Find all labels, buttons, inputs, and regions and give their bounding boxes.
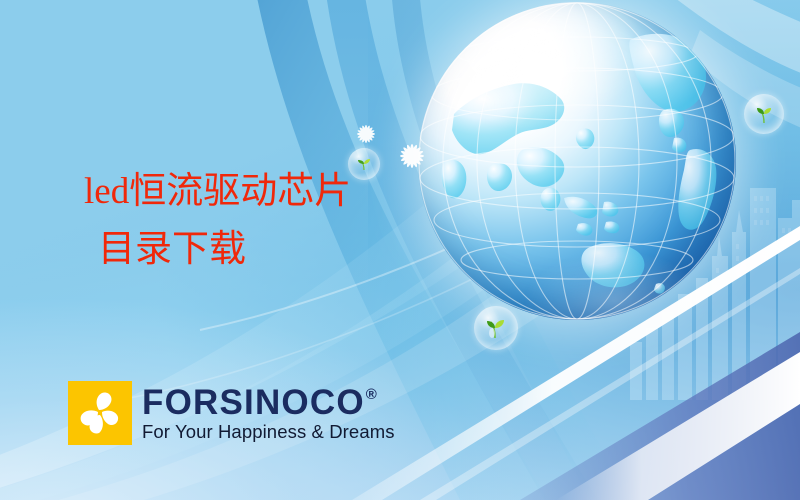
logo-text-block: FORSINOCO ® For Your Happiness & Dreams <box>142 385 395 442</box>
brand-logo: FORSINOCO ® For Your Happiness & Dreams <box>68 381 395 445</box>
forsinoco-pinwheel-icon <box>68 381 132 445</box>
promotional-banner: led恒流驱动芯片 目录下载 FORSINOCO ® For Your Happ… <box>0 0 800 500</box>
registered-trademark-icon: ® <box>366 387 378 402</box>
page-title: led恒流驱动芯片 目录下载 <box>84 163 351 280</box>
logo-brand-name-text: FORSINOCO <box>142 385 365 420</box>
logo-brand-name: FORSINOCO ® <box>142 385 395 420</box>
headline-line-2: 目录下载 <box>84 221 351 279</box>
headline-line-1: led恒流驱动芯片 <box>84 171 351 212</box>
logo-tagline: For Your Happiness & Dreams <box>142 423 395 442</box>
